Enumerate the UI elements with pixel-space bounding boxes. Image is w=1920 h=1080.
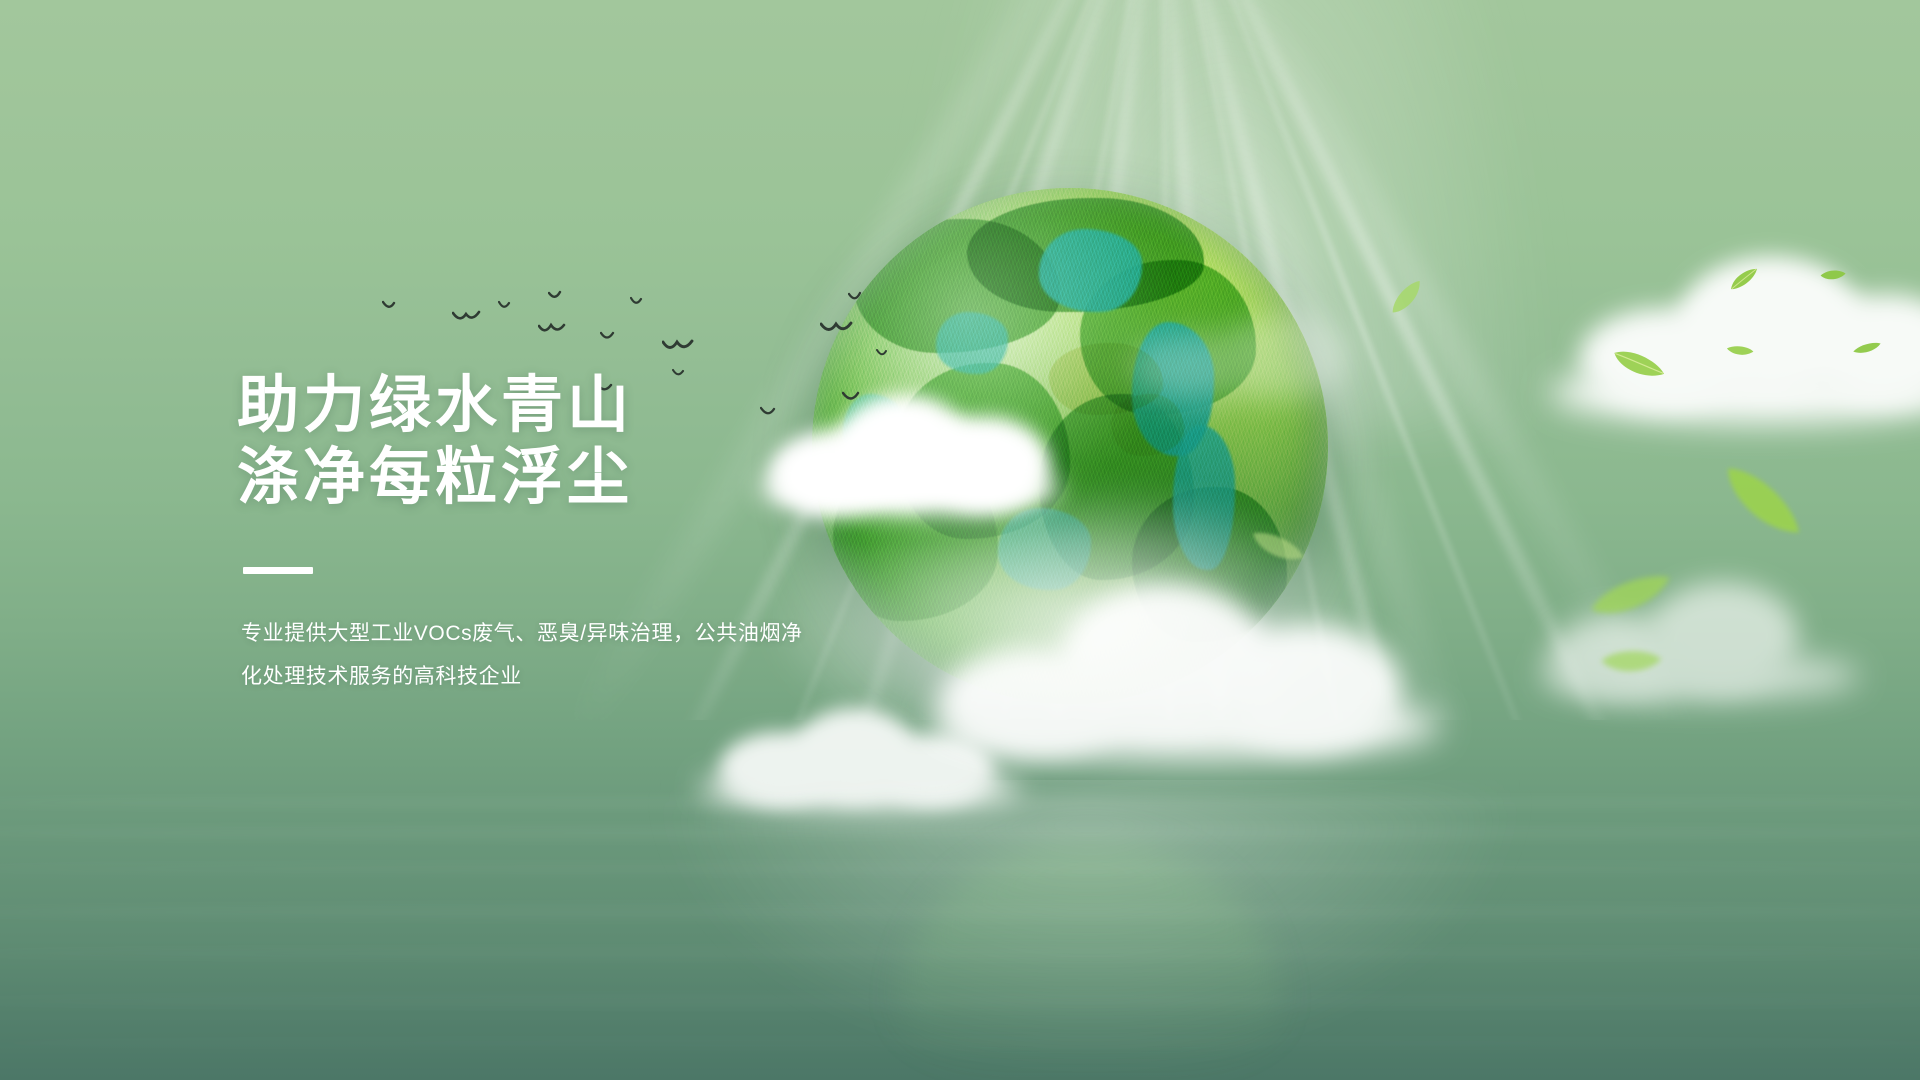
leaf-icon <box>1725 340 1756 362</box>
leaf-icon <box>1608 338 1668 393</box>
leaf-icon <box>1851 340 1882 355</box>
bird-icon <box>630 296 656 310</box>
bird-icon <box>538 322 568 338</box>
cloud-right-lower <box>1540 560 1870 710</box>
leaf-icon <box>1716 449 1805 555</box>
leaf-icon <box>1383 277 1431 318</box>
banner-copy: 助力绿水青山 涤净每粒浮尘 专业提供大型工业VOCs废气、恶臭/异味治理，公共油… <box>237 370 997 698</box>
title-divider <box>243 567 313 574</box>
bird-icon <box>876 348 898 360</box>
bird-icon <box>382 300 408 314</box>
leaf-icon <box>1598 641 1665 683</box>
leaf-icon <box>1725 265 1763 293</box>
hero-banner: 助力绿水青山 涤净每粒浮尘 专业提供大型工业VOCs废气、恶臭/异味治理，公共油… <box>0 0 1920 1080</box>
leaf-icon <box>1819 265 1847 284</box>
leaf-icon <box>1586 572 1676 620</box>
page-title: 助力绿水青山 涤净每粒浮尘 <box>237 370 997 514</box>
bird-icon <box>662 338 696 356</box>
bird-icon <box>498 300 522 314</box>
bird-icon <box>600 330 628 345</box>
bird-icon <box>548 290 574 304</box>
cloud-right <box>1580 236 1920 426</box>
bird-icon <box>848 290 874 306</box>
headline-line-1: 助力绿水青山 <box>237 371 633 440</box>
headline-line-2: 涤净每粒浮尘 <box>237 443 633 512</box>
banner-subtitle: 专业提供大型工业VOCs废气、恶臭/异味治理，公共油烟净 化处理技术服务的高科技… <box>241 612 901 698</box>
bird-icon <box>452 310 482 326</box>
bird-icon <box>820 320 854 338</box>
subtitle-line-1: 专业提供大型工业VOCs废气、恶臭/异味治理，公共油烟净 <box>241 622 803 645</box>
subtitle-line-2: 化处理技术服务的高科技企业 <box>241 665 522 688</box>
water-reflection <box>0 780 1920 1080</box>
